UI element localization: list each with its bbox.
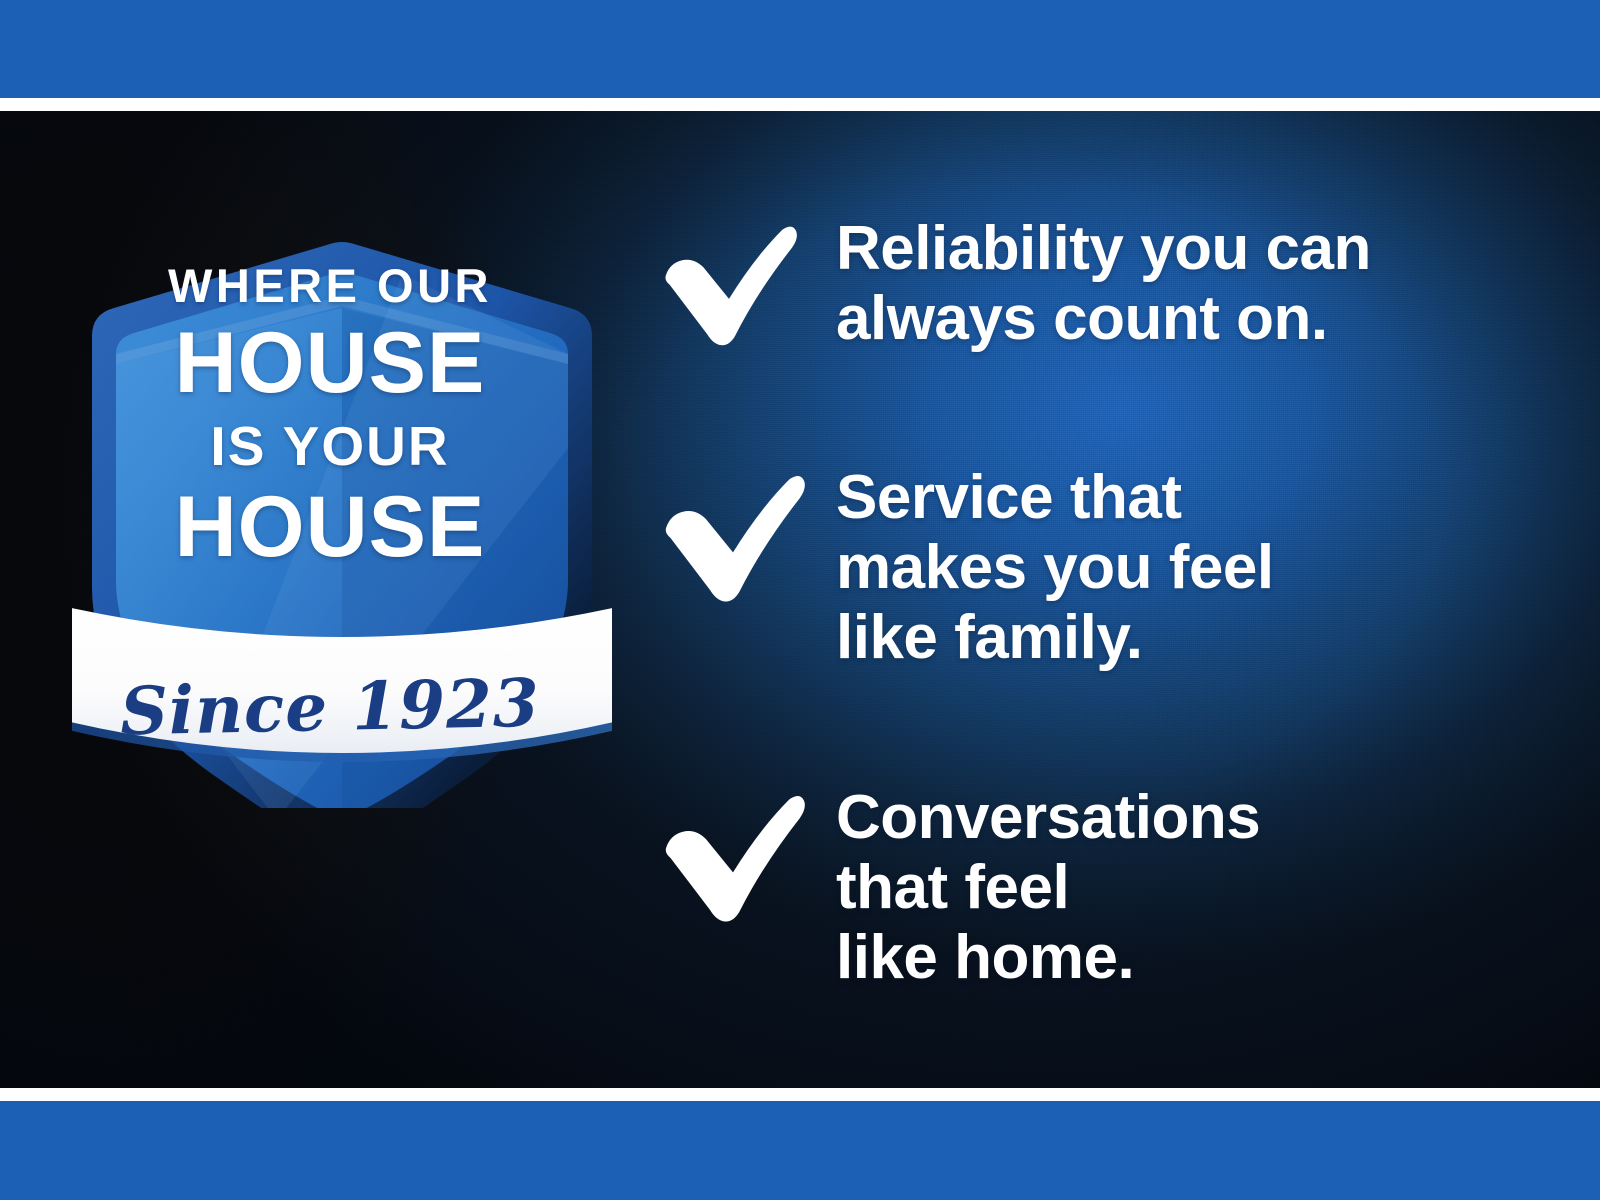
list-item-text: Service that makes you feel like family. <box>836 463 1274 673</box>
checkmark-icon <box>660 469 806 602</box>
bottom-brand-bar <box>0 1101 1600 1200</box>
badge-line-1: WHERE OUR <box>72 262 588 309</box>
benefits-list: Reliability you can always count on. Ser… <box>660 111 1540 1088</box>
badge-line-4: HOUSE <box>72 484 588 570</box>
bottom-white-divider <box>0 1088 1600 1101</box>
checkmark-icon <box>660 220 798 346</box>
list-item-text: Reliability you can always count on. <box>836 214 1371 354</box>
top-white-divider <box>0 98 1600 111</box>
list-item: Reliability you can always count on. <box>660 214 1371 354</box>
badge-headline: WHERE OUR HOUSE IS YOUR HOUSE <box>72 262 588 570</box>
list-item: Service that makes you feel like family. <box>660 463 1274 673</box>
list-item-text: Conversations that feel like home. <box>836 783 1260 993</box>
badge-line-2: HOUSE <box>72 320 588 406</box>
top-brand-bar <box>0 0 1600 98</box>
shield-badge: WHERE OUR HOUSE IS YOUR HOUSE Since 1923 <box>72 168 612 808</box>
promo-graphic: WHERE OUR HOUSE IS YOUR HOUSE Since 1923… <box>0 0 1600 1200</box>
checkmark-icon <box>660 789 806 922</box>
list-item: Conversations that feel like home. <box>660 783 1260 993</box>
since-year-script: Since 1923 <box>71 663 589 752</box>
badge-line-3: IS YOUR <box>72 419 588 474</box>
